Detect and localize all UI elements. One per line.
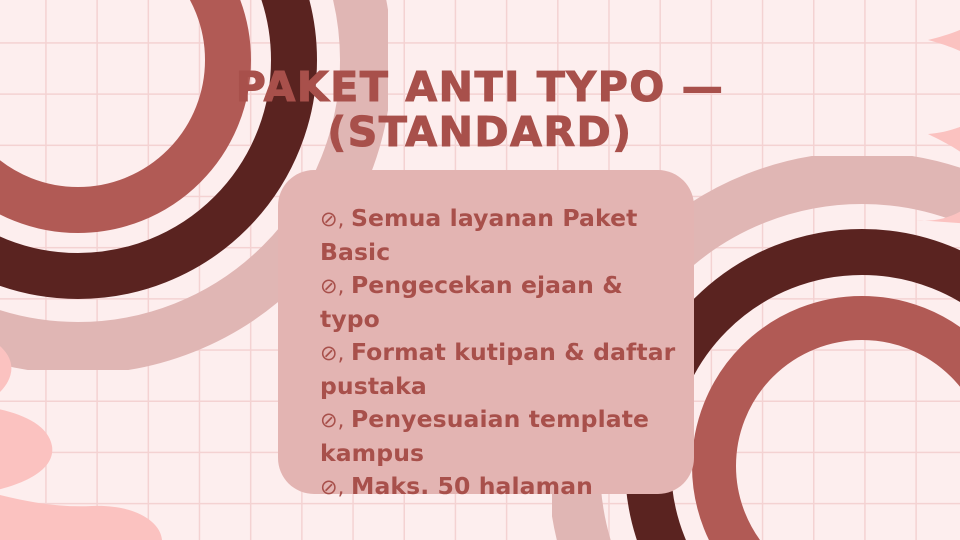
feature-list: ⊘, Semua layanan Paket Basic ⊘, Pengecek… (320, 202, 676, 504)
feature-card: ⊘, Semua layanan Paket Basic ⊘, Pengecek… (278, 170, 694, 494)
list-item: ⊘, Penyesuaian template kampus (320, 403, 676, 470)
list-item: ⊘, Format kutipan & daftar pustaka (320, 336, 676, 403)
list-item: ⊘, Pengecekan ejaan & typo (320, 269, 676, 336)
check-circle-icon: ⊘, (320, 475, 351, 499)
list-item-label: Semua layanan Paket Basic (320, 204, 637, 266)
list-item-label: Pengecekan ejaan & typo (320, 271, 623, 333)
list-item-label: Penyesuaian template kampus (320, 405, 649, 467)
list-item: ⊘, Maks. 50 halaman (320, 470, 676, 504)
list-item: ⊘, Semua layanan Paket Basic (320, 202, 676, 269)
check-circle-icon: ⊘, (320, 207, 351, 231)
slide-title-line-1: PAKET ANTI TYPO — (0, 65, 960, 110)
wavy-blob-bottom-left (0, 330, 166, 540)
check-circle-icon: ⊘, (320, 274, 351, 298)
check-circle-icon: ⊘, (320, 341, 351, 365)
slide-title: PAKET ANTI TYPO — (STANDARD) (0, 65, 960, 155)
list-item-label: Maks. 50 halaman (351, 472, 593, 500)
slide-canvas: PAKET ANTI TYPO — (STANDARD) ⊘, Semua la… (0, 0, 960, 540)
slide-title-line-2: (STANDARD) (0, 110, 960, 155)
list-item-label: Format kutipan & daftar pustaka (320, 338, 675, 400)
check-circle-icon: ⊘, (320, 408, 351, 432)
